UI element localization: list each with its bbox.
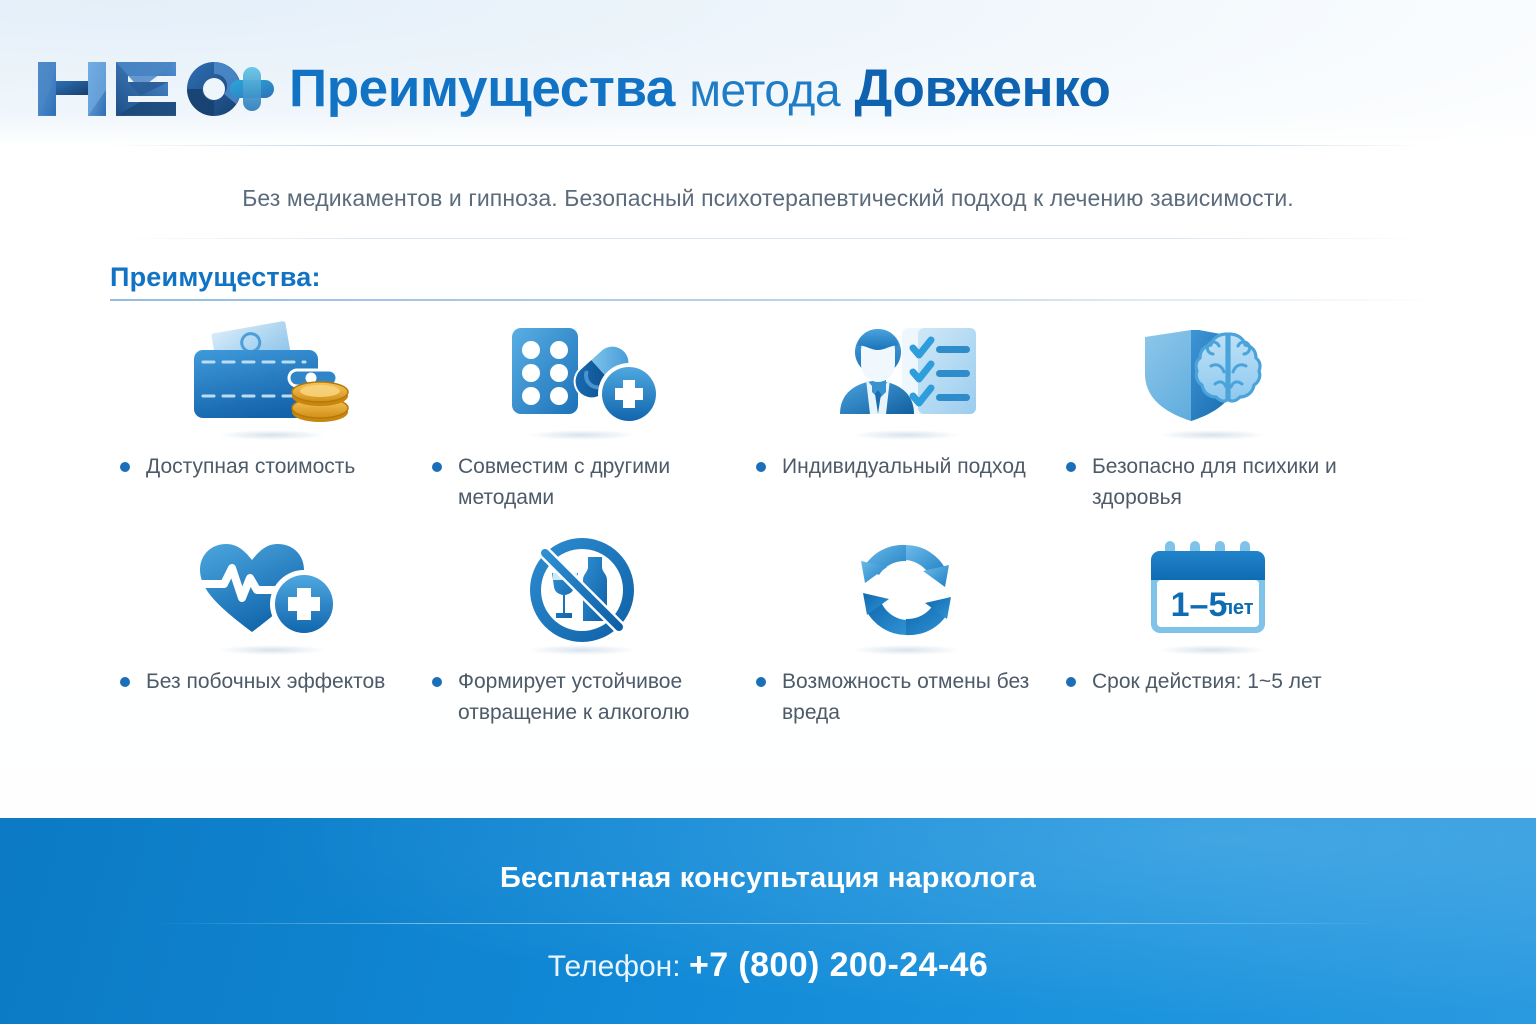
infographic-poster: Преимущества метода Довженко Без медикам… (0, 0, 1536, 1024)
calendar-number: 1–5 (1171, 586, 1228, 624)
benefit-label-text: Доступная стоимость (146, 455, 355, 478)
title-part-2: метода (689, 64, 840, 116)
icon-shadow (197, 428, 347, 442)
phone-number[interactable]: +7 (800) 200-24-46 (689, 946, 988, 984)
benefit-item: Формирует устойчивое отвращение к алкого… (416, 531, 748, 761)
benefits-grid: Доступная стоимость (106, 316, 1436, 786)
bullet-dot (432, 462, 442, 472)
section-heading: Преимущества: (110, 262, 321, 293)
benefit-item: Безопасно для психики и здоровья (1046, 316, 1378, 546)
shield-brain-icon (1046, 316, 1378, 436)
subtitle: Без медикаментов и гипноза. Безопасный п… (0, 182, 1536, 214)
bullet-dot (120, 462, 130, 472)
header-band: Преимущества метода Довженко (0, 0, 1536, 148)
calendar-unit: лет (1220, 597, 1253, 619)
icon-shadow (1137, 643, 1287, 657)
benefit-label-text: Срок действия: 1~5 лет (1092, 670, 1322, 693)
benefits-row-2: Без побочных эффектов (106, 531, 1436, 761)
doctor-checklist-icon (740, 316, 1072, 436)
page-title: Преимущества метода Довженко (289, 58, 1111, 121)
bullet-dot (1066, 462, 1076, 472)
icon-shadow (831, 428, 981, 442)
heart-pulse-cross-icon (106, 531, 438, 651)
benefits-row-1: Доступная стоимость (106, 316, 1436, 546)
benefit-label-text: Без побочных эффектов (146, 670, 385, 693)
benefit-item: 1–5 лет Срок действия: 1~5 лет (1046, 531, 1378, 761)
divider-above-subtitle (110, 145, 1430, 146)
phone-label: Телефон: (548, 950, 681, 983)
footer-headline: Бесплатная консупьтация нарколога (0, 862, 1536, 895)
benefit-label: Срок действия: 1~5 лет (1066, 666, 1382, 697)
benefit-item: Без побочных эффектов (106, 531, 438, 761)
benefit-label-text: Совместим с другими методами (458, 455, 670, 509)
footer-divider (150, 923, 1386, 924)
benefit-label: Без побочных эффектов (120, 666, 436, 697)
bullet-dot (432, 677, 442, 687)
benefit-label: Формирует устойчивое отвращение к алкого… (432, 666, 748, 728)
bullet-dot (756, 462, 766, 472)
bullet-dot (756, 677, 766, 687)
footer-phone-row: Телефон: +7 (800) 200-24-46 (0, 946, 1536, 985)
pills-capsule-plus-icon (416, 316, 748, 436)
benefit-label-text: Возможность отмены без вреда (782, 670, 1029, 724)
title-part-1: Преимущества (289, 59, 675, 118)
benefit-label: Безопасно для психики и здоровья (1066, 451, 1382, 513)
bullet-dot (1066, 677, 1076, 687)
neo-plus-logo (36, 56, 274, 122)
section-divider (110, 299, 1440, 301)
icon-shadow (507, 428, 657, 442)
bullet-dot (120, 677, 130, 687)
icon-shadow (1137, 428, 1287, 442)
footer-cta-band: Бесплатная консупьтация нарколога Телефо… (0, 818, 1536, 1024)
no-alcohol-icon (416, 531, 748, 651)
wallet-coins-icon (106, 316, 438, 436)
benefit-label-text: Индивидуальный подход (782, 455, 1026, 478)
benefit-item: Совместим с другими методами (416, 316, 748, 546)
icon-shadow (507, 643, 657, 657)
benefit-label: Индивидуальный подход (756, 451, 1072, 482)
benefit-item: Возможность отмены без вреда (740, 531, 1072, 761)
benefit-label-text: Безопасно для психики и здоровья (1092, 455, 1337, 509)
icon-shadow (197, 643, 347, 657)
benefit-label: Совместим с другими методами (432, 451, 748, 513)
benefit-label-text: Формирует устойчивое отвращение к алкого… (458, 670, 689, 724)
benefit-item: Индивидуальный подход (740, 316, 1072, 546)
title-part-3: Довженко (855, 59, 1111, 118)
icon-shadow (831, 643, 981, 657)
reverse-arrows-icon (740, 531, 1072, 651)
benefit-label: Доступная стоимость (120, 451, 436, 482)
calendar-icon: 1–5 лет (1046, 531, 1378, 651)
divider-below-subtitle (110, 238, 1430, 239)
benefit-label: Возможность отмены без вреда (756, 666, 1072, 728)
benefit-item: Доступная стоимость (106, 316, 438, 546)
